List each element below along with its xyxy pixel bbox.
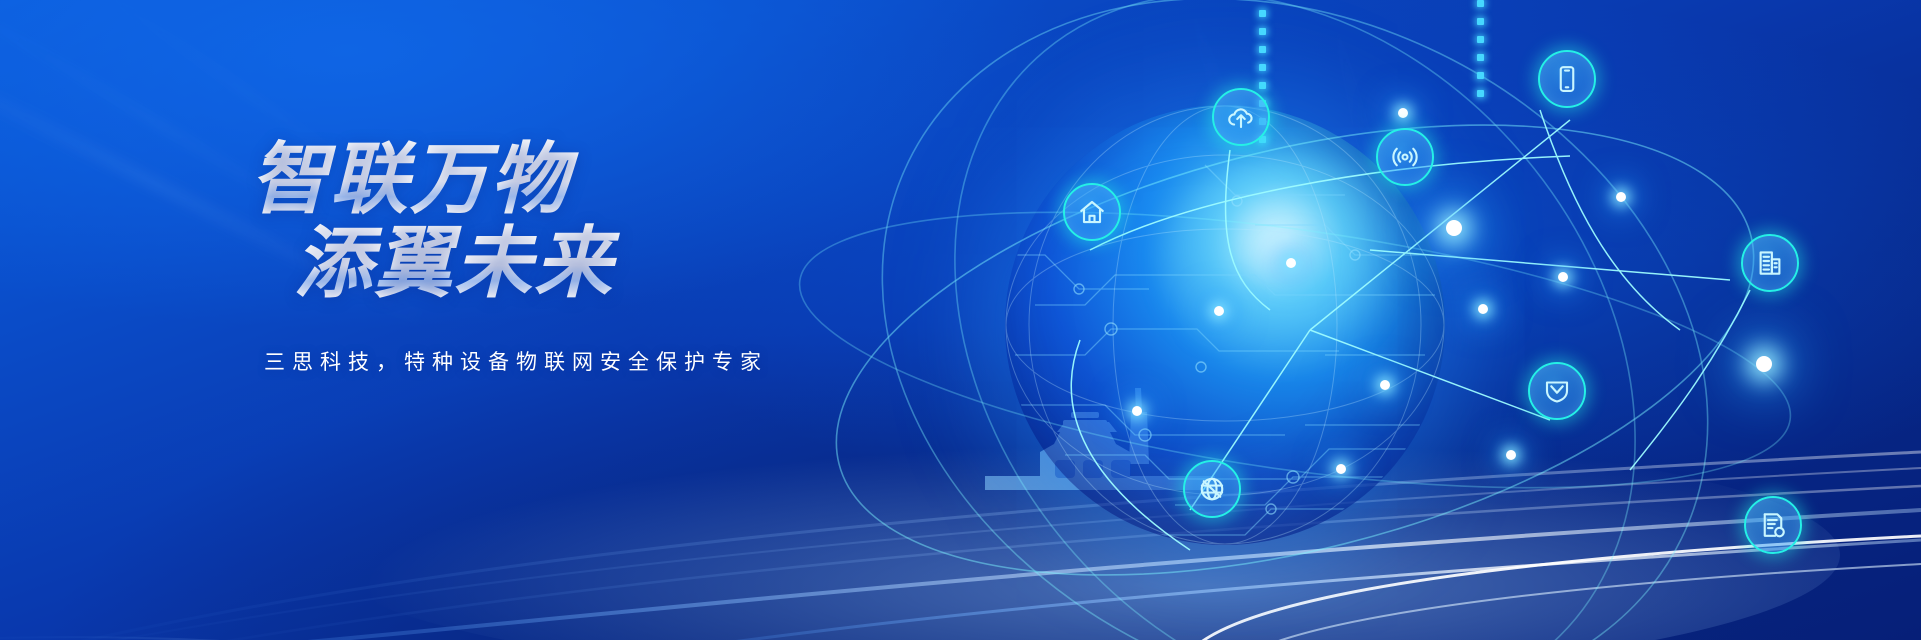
shield-icon[interactable] <box>1528 362 1586 420</box>
network-node-point <box>1380 380 1390 390</box>
network-node-point <box>1446 220 1462 236</box>
cloud-upload-icon[interactable] <box>1212 88 1270 146</box>
network-node-point <box>1336 464 1346 474</box>
cloud-upload-glyph <box>1226 102 1256 132</box>
document-report-glyph <box>1758 510 1788 540</box>
network-node-point <box>1286 258 1296 268</box>
document-report-icon[interactable] <box>1744 496 1802 554</box>
home-icon[interactable] <box>1063 183 1121 241</box>
network-node-point <box>1616 192 1626 202</box>
network-node-point <box>1132 406 1142 416</box>
network-node-point <box>1506 450 1516 460</box>
network-node-point <box>1214 306 1224 316</box>
building-glyph <box>1755 248 1785 278</box>
mobile-phone-glyph <box>1552 64 1582 94</box>
network-node-point <box>1398 108 1408 118</box>
globe-network-icon[interactable] <box>1183 460 1241 518</box>
wifi-signal-glyph <box>1390 142 1420 172</box>
orbit-connection-lines <box>670 0 1920 640</box>
home-glyph <box>1077 197 1107 227</box>
network-node-point <box>1756 356 1772 372</box>
globe-network-glyph <box>1197 474 1227 504</box>
wifi-signal-icon[interactable] <box>1376 128 1434 186</box>
network-node-point <box>1478 304 1488 314</box>
network-node-point <box>1558 272 1568 282</box>
building-icon[interactable] <box>1741 234 1799 292</box>
hero-banner: 智联万物 添翼未来 三思科技，特种设备物联网安全保护专家 <box>0 0 1921 640</box>
globe-network-graphic <box>960 60 1580 640</box>
mobile-phone-icon[interactable] <box>1538 50 1596 108</box>
shield-glyph <box>1542 376 1572 406</box>
